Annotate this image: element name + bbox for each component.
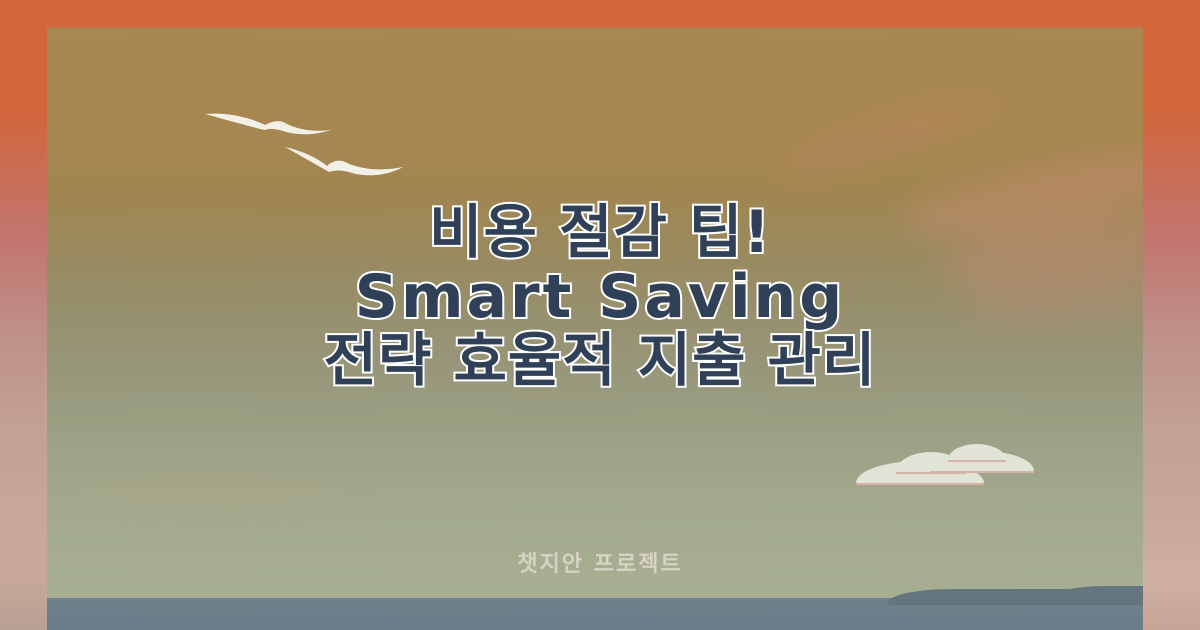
cloud-wisp-icon [60, 470, 360, 510]
headline-line-2: Smart Saving [0, 267, 1200, 327]
headline-line-3: 전략 효율적 지출 관리 [0, 331, 1200, 389]
seagull-icon [203, 100, 333, 142]
seagull-icon [281, 139, 407, 181]
headline-line-1: 비용 절감 팁! [0, 203, 1200, 261]
poster-canvas: 비용 절감 팁! Smart Saving 전략 효율적 지출 관리 챗지안 프… [0, 0, 1200, 630]
watermark-brand: 챗지안 프로젝트 [0, 546, 1200, 578]
page-title: 비용 절감 팁! Smart Saving 전략 효율적 지출 관리 [0, 203, 1200, 389]
